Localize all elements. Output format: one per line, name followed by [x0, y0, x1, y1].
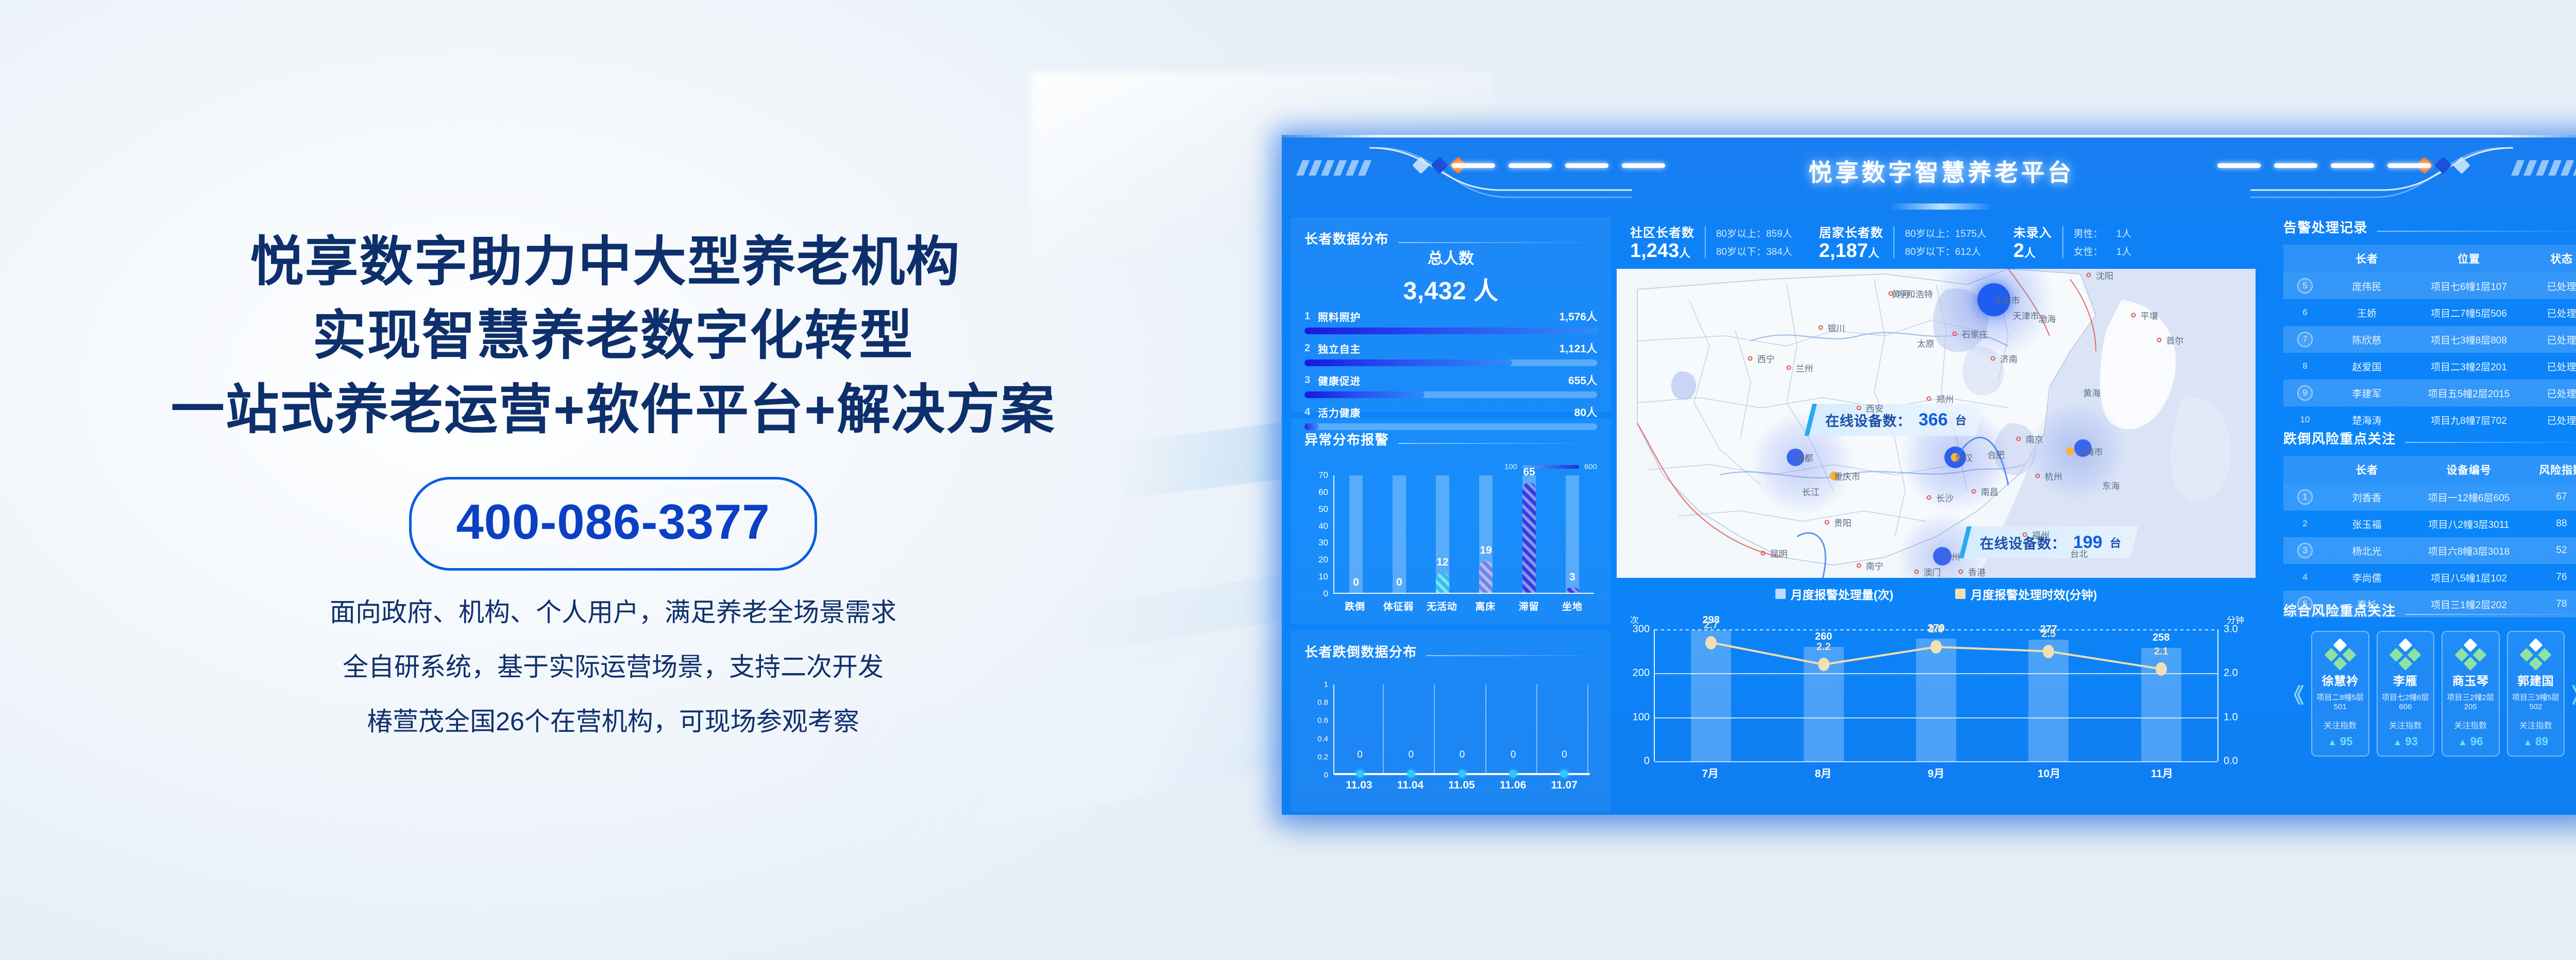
map-city-marker-icon [2131, 313, 2136, 318]
marketing-panel: 悦享数字助力中大型养老机构 实现智慧养老数字化转型 一站式养老运营+软件平台+解… [0, 0, 1226, 960]
kpi-home-unit: 人 [1868, 247, 1879, 260]
monthly-alarm-chart: 月度报警处理量(次) 月度报警处理时效(分钟) 次 分钟 0100200300 … [1617, 584, 2256, 794]
headline-line-3: 一站式养老运营+软件平台+解决方案 [171, 373, 1056, 448]
fall-risk-cell: 李尚儒 [2327, 564, 2407, 591]
alarm-x-tick: 跌倒 [1340, 599, 1370, 613]
bullet-3: 椿萱茂全国26个在营机构，可现场参观考察 [330, 709, 896, 734]
monthly-line-value: 2.1 [2154, 646, 2168, 658]
kpi-home-sub-1: 80岁以上：1575人 [1905, 226, 1986, 240]
distribution-name: 独立自主 [1318, 341, 1361, 356]
table-row[interactable]: 1刘香香项目一12幢6层60567 [2283, 484, 2576, 510]
fall-risk-cell: 76 [2531, 564, 2576, 591]
diamond-cluster-icon [2315, 640, 2365, 668]
monthly-x-tick: 7月 [1690, 765, 1731, 781]
alarm-log-col-header: 位置 [2407, 245, 2531, 272]
alarm-y-tick: 30 [1318, 538, 1328, 548]
alarm-log-cell: 项目七6幢1层107 [2407, 272, 2531, 299]
alarm-log-cell: 6 [2283, 299, 2327, 326]
risk-index-label: 关注指数 [2511, 718, 2561, 731]
map-city-marker-icon [2016, 437, 2021, 441]
row-rank-badge: 8 [2297, 358, 2313, 374]
fall-data-card: 长者跌倒数据分布 00.20.40.60.81 00000 11.0311.04… [1291, 630, 1611, 812]
fall-x-tick: 11.04 [1385, 779, 1436, 792]
fall-risk-cell: 3 [2283, 537, 2327, 564]
carousel-next-arrow[interactable]: 》 [2572, 631, 2576, 757]
alarm-log-card: 告警处理记录 长者位置状态 5庞伟民项目七6幢1层107已处理6王娇项目二7幢5… [2283, 217, 2576, 422]
map-city-label: 重庆市 [1834, 470, 1860, 483]
distribution-bar-track [1304, 328, 1597, 334]
fall-risk-cell: 项目八2幢3层3011 [2407, 510, 2531, 537]
risk-index-value: ▲95 [2315, 735, 2365, 748]
total-people-block: 总人数 3,432 人 [1304, 246, 1597, 306]
kpi-unregistered: 未录入 2人 男性：1人 女性：1人 [2000, 217, 2145, 267]
dashboard-monitor: 悦享数字智慧养老平台 长者数据分布 总人数 3,432 人 1照料照护1,576… [1282, 135, 2576, 815]
fall-data-value: 0 [1409, 749, 1414, 761]
alarm-bar-column[interactable]: 3 [1564, 475, 1581, 593]
alarm-x-tick: 体征弱 [1383, 599, 1414, 613]
distribution-bar-fill [1304, 391, 1425, 398]
fall-risk-cell: 杨北光 [2327, 537, 2407, 564]
kpi-female-label: 女性： [2074, 244, 2103, 258]
map-city-label: 天津市 [2013, 309, 2039, 322]
monthly-line-point[interactable] [1705, 636, 1717, 649]
fall-risk-cell: 88 [2531, 510, 2576, 537]
kpi-community-value: 1,243 [1630, 240, 1679, 262]
monthly-y-axis-right: 0.01.02.03.0 [2224, 629, 2250, 761]
alarm-log-cell: 李建军 [2327, 380, 2407, 406]
alarm-log-body: 5庞伟民项目七6幢1层107已处理6王娇项目二7幢5层506已处理7陈欣慈项目七… [2283, 272, 2576, 433]
kpi-community-sub-1: 80岁以上：859人 [1716, 226, 1792, 240]
legend-label-duration: 月度报警处理时效(分钟) [1971, 585, 2097, 603]
fall-gridline [1587, 684, 1588, 775]
alarm-bar-value: 0 [1396, 576, 1402, 589]
legend-swatch-duration-icon [1955, 589, 1965, 599]
table-row[interactable]: 2张玉福项目八2幢3层301188 [2283, 510, 2576, 537]
up-triangle-icon: ▲ [2523, 737, 2533, 747]
kpi-male-value: 1人 [2116, 226, 2132, 240]
fall-data-value: 0 [1511, 749, 1516, 761]
risk-person-card[interactable]: 徐慧衿项目二8幢5层501关注指数▲95 [2311, 631, 2369, 757]
map-city-label: 长江 [1802, 485, 1820, 498]
dashboard-title: 悦享数字智慧养老平台 [1282, 154, 2576, 188]
map-city-marker-icon [1952, 332, 1957, 336]
fall-risk-col-header [2283, 456, 2327, 484]
title-rule [2405, 442, 2576, 443]
kpi-community-unit: 人 [1679, 247, 1690, 260]
map-city-label: 南宁 [1866, 559, 1884, 572]
fall-data-point[interactable] [1561, 770, 1568, 778]
map-city-marker-icon [1856, 406, 1861, 410]
map-city-label: 贵阳 [1834, 516, 1852, 529]
title-rule [1426, 655, 1597, 656]
risk-index-value: ▲93 [2381, 735, 2431, 748]
alarm-log-cell: 已处理 [2531, 272, 2576, 299]
table-row[interactable]: 8赵爱国项目二3幢2层201已处理 [2283, 353, 2576, 380]
alarm-x-axis-labels: 跌倒体征弱无活动离床滞留坐地 [1333, 599, 1594, 613]
row-rank-badge: 2 [2297, 516, 2313, 532]
map-city-marker-icon [1786, 366, 1791, 370]
monthly-line-point[interactable] [1818, 658, 1829, 671]
map-label-366-value: 366 [1919, 410, 1948, 430]
kpi-home: 居家长者数 2,187人 80岁以上：1575人 80岁以下：612人 [1806, 217, 2000, 267]
distribution-value: 1,121人 [1559, 340, 1597, 356]
alarm-log-title: 告警处理记录 [2283, 217, 2368, 236]
monthly-right-tick: 3.0 [2224, 624, 2238, 636]
map-label-online-366: 在线设备数： 366 台 [1804, 404, 1984, 436]
distribution-value: 655人 [1568, 372, 1597, 388]
fall-risk-title: 跌倒风险重点关注 [2283, 428, 2396, 448]
diamond-cluster-icon [2381, 640, 2431, 668]
kpi-home-label: 居家长者数 [1819, 222, 1884, 241]
map-city-label: 成都 [1795, 451, 1813, 464]
table-row[interactable]: 6王娇项目二7幢5层506已处理 [2283, 299, 2576, 326]
kpi-male-label: 男性： [2074, 226, 2103, 240]
row-rank-badge: 1 [2297, 489, 2313, 505]
monthly-x-tick: 9月 [1916, 765, 1956, 781]
alarm-bar-fill [1436, 573, 1449, 593]
table-row[interactable]: 4李尚儒项目八5幢1层10276 [2283, 564, 2576, 591]
map-city-label: 台北 [2070, 547, 2088, 560]
elder-distribution-card: 长者数据分布 总人数 3,432 人 1照料照护1,576人2独立自主1,121… [1291, 217, 1611, 412]
monthly-x-tick: 8月 [1803, 765, 1843, 781]
fall-gridline [1485, 684, 1486, 775]
alarm-log-cell: 项目七3幢8层808 [2407, 326, 2531, 353]
alarm-y-tick: 50 [1318, 504, 1328, 515]
alarm-log-cell: 已处理 [2531, 353, 2576, 380]
monthly-left-tick: 0 [1644, 756, 1650, 767]
distribution-rank: 1 [1304, 311, 1318, 322]
alarm-bar-column[interactable]: 12 [1434, 475, 1451, 593]
alarm-y-axis: 010203040506070 [1304, 475, 1328, 594]
fall-gridline [1434, 684, 1435, 775]
risk-index-label: 关注指数 [2446, 718, 2496, 731]
alarm-bar-track [1349, 475, 1363, 593]
legend-swatch-volume-icon [1775, 589, 1786, 599]
fall-gridline [1536, 684, 1537, 775]
alarm-bar-column[interactable]: 0 [1391, 475, 1408, 593]
overall-risk-card: 综合风险重点关注 《 徐慧衿项目二8幢5层501关注指数▲95李雁项目七2幢6层… [2283, 601, 2576, 807]
map-city-marker-icon [1959, 570, 1963, 574]
monthly-right-tick: 0.0 [2224, 756, 2238, 767]
alarm-plot-area: 001219653 [1333, 475, 1594, 594]
map-city-marker-icon [1914, 570, 1919, 574]
fall-risk-cell: 刘香香 [2327, 484, 2407, 510]
map-city-label: 上海市 [2077, 445, 2103, 458]
monthly-line-point[interactable] [1930, 640, 1942, 654]
up-triangle-icon: ▲ [2328, 737, 2337, 747]
title-rule [1398, 242, 1597, 243]
alarm-log-cell: 已处理 [2531, 380, 2576, 406]
monthly-line-value: 2.6 [1929, 624, 1943, 636]
distribution-item: 2独立自主1,121人 [1304, 340, 1597, 366]
row-rank-badge: 3 [2297, 543, 2313, 558]
monthly-x-tick: 11月 [2142, 765, 2182, 781]
alarm-bar-value: 65 [1523, 466, 1535, 478]
fall-risk-card: 跌倒风险重点关注 长者设备编号风险指数 1刘香香项目一12幢6层605672张玉… [2283, 428, 2576, 593]
distribution-value: 1,576人 [1559, 308, 1597, 324]
fall-data-point[interactable] [1356, 770, 1364, 778]
alarm-bar-value: 19 [1480, 544, 1492, 557]
distribution-bar-track [1304, 391, 1597, 398]
alarm-log-cell: 陈欣慈 [2327, 326, 2407, 353]
alarm-bar-column[interactable]: 19 [1477, 475, 1495, 593]
distribution-rank: 2 [1304, 342, 1318, 354]
distribution-bar-track [1304, 359, 1597, 366]
distribution-item: 3健康促进655人 [1304, 372, 1597, 398]
map-city-marker-icon [1748, 356, 1753, 361]
fall-data-point[interactable] [1407, 770, 1415, 778]
kpi-home-sub-2: 80岁以下：612人 [1905, 244, 1986, 258]
map-city-marker-icon [2023, 533, 2027, 537]
alarm-bar-value: 0 [1353, 576, 1359, 589]
fall-y-tick: 0.4 [1317, 734, 1328, 743]
map-city-label: 石家庄 [1962, 328, 1988, 340]
fall-x-tick: 11.06 [1487, 779, 1539, 792]
monthly-line-point[interactable] [2043, 645, 2054, 658]
monthly-x-axis-labels: 7月8月9月10月11月 [1654, 765, 2218, 781]
monthly-line-point[interactable] [2156, 662, 2167, 676]
headline-line-2: 实现智慧养老数字化转型 [171, 299, 1056, 373]
dashboard-header: 悦享数字智慧养老平台 [1282, 138, 2576, 215]
fall-risk-cell: 67 [2531, 484, 2576, 510]
fall-risk-col-header: 风险指数 [2531, 456, 2576, 484]
distribution-value: 80人 [1574, 404, 1597, 420]
risk-person-card[interactable]: 商玉琴项目三2幢2层205关注指数▲96 [2442, 631, 2500, 757]
fall-plot-area: 00000 [1333, 684, 1590, 775]
fall-risk-cell: 52 [2531, 537, 2576, 564]
map-city-marker-icon [2036, 474, 2040, 478]
alarm-log-cell: 已处理 [2531, 299, 2576, 326]
monthly-chart-legend: 月度报警处理量(次) 月度报警处理时效(分钟) [1617, 585, 2256, 603]
risk-index-label: 关注指数 [2315, 718, 2365, 731]
alarm-bar-column[interactable]: 0 [1347, 475, 1365, 593]
china-device-map[interactable]: 在线设备数： 366 台 在线设备数： 199 台 呼和浩特银川西宁兰州太原石家… [1617, 269, 2256, 578]
title-underline-decor [1890, 203, 1993, 210]
fall-y-axis: 00.20.40.60.81 [1304, 684, 1328, 775]
map-city-label: 福州 [2032, 528, 2049, 541]
monthly-line-value: 2.2 [1817, 641, 1831, 653]
map-city-label: 西宁 [1757, 352, 1775, 365]
phone-number: 400-086-3377 [456, 494, 770, 551]
map-label-366-unit: 台 [1955, 412, 1967, 428]
map-city-label: 郑州 [1936, 392, 1954, 405]
fall-data-value: 0 [1357, 749, 1363, 761]
title-rule [2405, 614, 2576, 615]
row-rank-badge: 5 [2297, 278, 2313, 294]
alarm-log-cell: 赵爱国 [2327, 353, 2407, 380]
monthly-plot-area: 2982602792772582.72.22.62.52.1 [1654, 629, 2218, 761]
monthly-line-value: 2.7 [1704, 620, 1718, 631]
map-city-label: 平壤 [2141, 309, 2158, 322]
marketing-bullets: 面向政府、机构、个人用户，满足养老全场景需求 全自研系统，基于实际运营场景，支持… [330, 599, 896, 734]
fall-risk-body: 1刘香香项目一12幢6层605672张玉福项目八2幢3层3011883杨北光项目… [2283, 484, 2576, 618]
map-city-label: 兰州 [1795, 362, 1813, 374]
map-city-label: 香港 [1968, 565, 1986, 578]
table-row[interactable]: 5庞伟民项目七6幢1层107已处理 [2283, 272, 2576, 299]
fall-risk-col-header: 设备编号 [2407, 456, 2531, 484]
alarm-gradient-legend: 100 600 [1504, 462, 1597, 471]
kpi-bar: 社区长者数 1,243人 80岁以上：859人 80岁以下：384人 居家长者数… [1617, 217, 2256, 267]
map-city-label: 西安 [1866, 402, 1884, 415]
alarm-log-col-header: 状态 [2531, 245, 2576, 272]
fall-y-tick: 0.2 [1317, 752, 1328, 761]
risk-person-name: 郭建国 [2511, 671, 2561, 689]
carousel-prev-arrow[interactable]: 《 [2283, 631, 2304, 757]
fall-data-point[interactable] [1459, 770, 1466, 778]
kpi-community-sub-2: 80岁以下：384人 [1716, 244, 1792, 258]
table-row[interactable]: 3杨北光项目六8幢3层301852 [2283, 537, 2576, 564]
alarm-log-cell: 项目五5幢2层2015 [2407, 380, 2531, 406]
fall-risk-table: 长者设备编号风险指数 1刘香香项目一12幢6层605672张玉福项目八2幢3层3… [2283, 456, 2576, 618]
kpi-home-value: 2,187 [1819, 240, 1868, 262]
alarm-y-tick: 40 [1318, 521, 1328, 532]
fall-y-tick: 0.8 [1317, 698, 1328, 707]
map-city-marker-icon [1760, 551, 1765, 556]
map-city-label: 东海 [2102, 479, 2120, 492]
risk-person-location: 项目二8幢5层501 [2315, 692, 2365, 711]
phone-cta-button[interactable]: 400-086-3377 [409, 477, 817, 571]
monthly-line-value: 2.5 [2041, 628, 2056, 640]
alarm-log-cell: 王娇 [2327, 299, 2407, 326]
map-city-label: 南京 [2026, 433, 2043, 445]
map-city-label: 昆明 [1770, 547, 1788, 560]
kpi-unregistered-unit: 人 [2024, 247, 2036, 260]
fall-risk-cell: 4 [2283, 564, 2327, 591]
fall-x-axis-labels: 11.0311.0411.0511.0611.07 [1333, 779, 1590, 792]
map-city-marker-icon [1856, 563, 1861, 568]
table-row[interactable]: 9李建军项目五5幢2层2015已处理 [2283, 380, 2576, 406]
map-city-marker-icon [2087, 273, 2091, 278]
alarm-bar-fill [1479, 561, 1493, 593]
row-rank-badge: 9 [2297, 385, 2313, 401]
map-city-label: 武汉 [1955, 451, 1973, 464]
map-city-marker-icon [1818, 325, 1823, 330]
risk-person-name: 商玉琴 [2446, 671, 2496, 689]
map-city-label: 澳门 [1923, 565, 1941, 578]
distribution-name: 照料照护 [1318, 309, 1361, 324]
risk-person-card[interactable]: 郭建国项目三3幢5层502关注指数▲89 [2507, 631, 2565, 757]
alarm-bar-value: 12 [1436, 556, 1448, 569]
diamond-cluster-icon [2446, 640, 2496, 668]
alarm-log-cell: 已处理 [2531, 326, 2576, 353]
distribution-rank: 4 [1304, 406, 1318, 418]
risk-person-location: 项目三3幢5层502 [2511, 692, 2561, 711]
overall-risk-title: 综合风险重点关注 [2283, 601, 2396, 620]
kpi-community-label: 社区长者数 [1630, 222, 1694, 241]
map-city-marker-icon [1927, 495, 1931, 500]
alarm-y-tick: 0 [1324, 589, 1328, 599]
up-triangle-icon: ▲ [2458, 737, 2467, 747]
abnormal-alarm-chart: 010203040506070 001219653 跌倒体征弱无活动离床滞留坐地 [1304, 475, 1597, 613]
legend-label-volume: 月度报警处理量(次) [1791, 585, 1893, 603]
fall-y-tick: 0 [1324, 771, 1328, 780]
alarm-bar-value: 3 [1569, 571, 1575, 584]
alarm-log-cell: 8 [2283, 353, 2327, 380]
risk-person-name: 李雁 [2381, 671, 2431, 689]
row-rank-badge: 10 [2297, 412, 2313, 427]
alarm-y-tick: 10 [1318, 572, 1328, 582]
fall-risk-header-row: 长者设备编号风险指数 [2283, 456, 2576, 484]
diamond-cluster-icon [2511, 640, 2561, 668]
map-city-label: 渤海 [2038, 312, 2056, 325]
legend-item-volume: 月度报警处理量(次) [1775, 585, 1893, 603]
fall-risk-cell: 项目六8幢3层3018 [2407, 537, 2531, 564]
alarm-log-col-header: 长者 [2327, 245, 2407, 272]
distribution-rank: 3 [1304, 374, 1318, 386]
fall-y-tick: 1 [1324, 680, 1328, 689]
table-row[interactable]: 7陈欣慈项目七3幢8层808已处理 [2283, 326, 2576, 353]
fall-gridline [1383, 684, 1384, 775]
fall-risk-cell: 项目八5幢1层102 [2407, 564, 2531, 591]
total-people-value: 3,432 人 [1304, 270, 1597, 306]
fall-data-title: 长者跌倒数据分布 [1304, 642, 1417, 661]
distribution-item: 1照料照护1,576人 [1304, 308, 1597, 334]
kpi-community: 社区长者数 1,243人 80岁以上：859人 80岁以下：384人 [1617, 217, 1806, 267]
monthly-right-tick: 1.0 [2224, 711, 2238, 723]
alarm-bar-fill [1566, 588, 1579, 593]
alarm-log-cell: 5 [2283, 272, 2327, 299]
risk-person-name: 徐慧衿 [2315, 671, 2365, 689]
distribution-bar-fill [1304, 328, 1597, 334]
kpi-female-value: 1人 [2116, 244, 2132, 258]
map-city-label: 首尔 [2166, 334, 2183, 347]
alarm-log-col-header [2283, 245, 2327, 272]
dashboard-center-column: 社区长者数 1,243人 80岁以上：859人 80岁以下：384人 居家长者数… [1617, 217, 2256, 808]
risk-card-list: 徐慧衿项目二8幢5层501关注指数▲95李雁项目七2幢6层606关注指数▲93商… [2311, 631, 2565, 757]
overall-risk-carousel: 《 徐慧衿项目二8幢5层501关注指数▲95李雁项目七2幢6层606关注指数▲9… [2283, 631, 2576, 757]
fall-data-value: 0 [1460, 749, 1465, 761]
risk-index-label: 关注指数 [2381, 718, 2431, 731]
alarm-log-table: 长者位置状态 5庞伟民项目七6幢1层107已处理6王娇项目二7幢5层506已处理… [2283, 245, 2576, 433]
headline-line-1: 悦享数字助力中大型养老机构 [156, 226, 1056, 300]
map-label-199-unit: 台 [2110, 534, 2121, 551]
fall-data-value: 0 [1562, 749, 1567, 761]
map-city-label: 沈阳 [2096, 269, 2113, 282]
alarm-y-tick: 60 [1318, 487, 1328, 498]
map-city-marker-icon [1824, 520, 1829, 525]
fall-line-chart: 00.20.40.60.81 00000 11.0311.0411.0511.0… [1304, 684, 1597, 801]
fall-risk-cell: 1 [2283, 484, 2327, 510]
fall-data-point[interactable] [1510, 770, 1517, 778]
map-city-label: 杭州 [2045, 470, 2062, 483]
alarm-x-tick: 无活动 [1427, 599, 1458, 613]
map-city-marker-icon [1991, 356, 1995, 361]
kpi-unregistered-label: 未录入 [2013, 222, 2052, 241]
title-rule [2377, 231, 2576, 232]
alarm-log-cell: 项目二7幢5层506 [2407, 299, 2531, 326]
monthly-left-tick: 200 [1633, 667, 1650, 679]
alarm-bar-column[interactable]: 65 [1520, 475, 1538, 593]
alarm-y-tick: 70 [1318, 470, 1328, 481]
alarm-log-cell: 9 [2283, 380, 2327, 406]
map-city-label: 黄河 [1891, 287, 1909, 300]
alarm-log-cell: 7 [2283, 326, 2327, 353]
map-city-marker-icon [2157, 338, 2161, 342]
distribution-name: 健康促进 [1318, 373, 1361, 388]
fall-risk-cell: 张玉福 [2327, 510, 2407, 537]
risk-person-card[interactable]: 李雁项目七2幢6层606关注指数▲93 [2377, 631, 2435, 757]
alarm-x-tick: 滞留 [1513, 599, 1544, 613]
map-city-marker-icon [1972, 489, 1976, 494]
dashboard-left-column: 长者数据分布 总人数 3,432 人 1照料照护1,576人2独立自主1,121… [1291, 217, 1611, 808]
bullet-1: 面向政府、机构、个人用户，满足养老全场景需求 [330, 599, 896, 625]
monthly-left-tick: 100 [1633, 711, 1650, 723]
row-rank-badge: 4 [2297, 570, 2313, 585]
alarm-bar-track [1393, 475, 1406, 593]
map-city-label: 南昌 [1981, 485, 1998, 498]
row-rank-badge: 7 [2297, 332, 2313, 347]
alarm-x-tick: 离床 [1470, 599, 1501, 613]
